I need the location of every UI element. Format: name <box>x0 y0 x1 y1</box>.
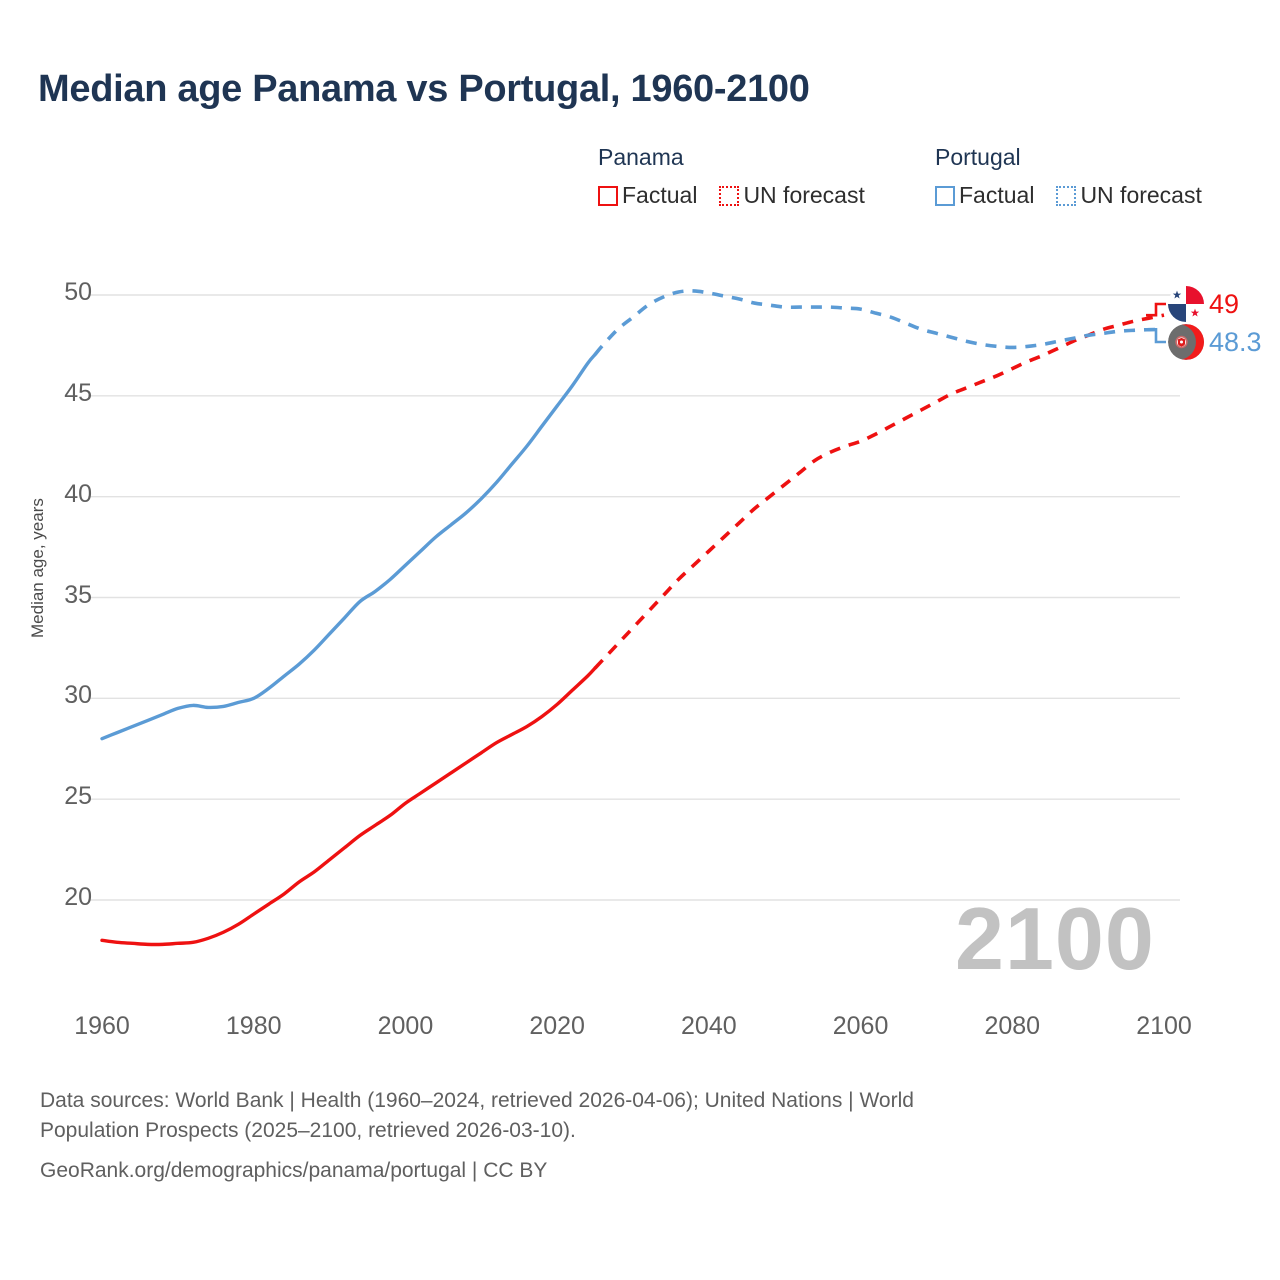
legend-swatch-solid-blue-icon <box>935 186 955 206</box>
legend-entry-panama-factual[interactable]: Factual <box>598 182 697 209</box>
endpoint-leader-panama <box>1146 304 1166 315</box>
x-axis-tick-2100: 2100 <box>1104 1012 1224 1041</box>
legend-label-portugal-forecast: UN forecast <box>1080 182 1201 209</box>
watermark-year: 2100 <box>955 888 1155 990</box>
x-axis-tick-2020: 2020 <box>497 1012 617 1041</box>
chart-page: Median age Panama vs Portugal, 1960-2100… <box>0 0 1280 1280</box>
legend-country-panama: Panama <box>598 142 865 172</box>
footer-sources-line1: Data sources: World Bank | Health (1960–… <box>40 1086 1170 1116</box>
legend-label-panama-factual: Factual <box>622 182 697 209</box>
panama-endpoint[interactable]: 49 <box>1168 286 1239 322</box>
series-line-factual-portugal <box>102 354 595 738</box>
legend-group-panama: Panama Factual UN forecast <box>598 142 865 209</box>
endpoint-leader-portugal <box>1146 329 1166 342</box>
data-series <box>102 291 1166 945</box>
x-axis-tick-2040: 2040 <box>649 1012 769 1041</box>
y-axis-tick-40: 40 <box>32 480 92 509</box>
y-axis-tick-50: 50 <box>32 278 92 307</box>
footer-sources-line2: Population Prospects (2025–2100, retriev… <box>40 1116 1170 1146</box>
legend-entry-portugal-factual[interactable]: Factual <box>935 182 1034 209</box>
y-axis-tick-25: 25 <box>32 782 92 811</box>
gridlines <box>88 295 1180 900</box>
footer-link[interactable]: GeoRank.org/demographics/panama/portugal… <box>40 1156 1170 1186</box>
portugal-flag-icon <box>1168 324 1204 360</box>
legend-country-portugal: Portugal <box>935 142 1202 172</box>
legend-group-portugal: Portugal Factual UN forecast <box>935 142 1202 209</box>
legend-entry-panama-forecast[interactable]: UN forecast <box>719 182 864 209</box>
portugal-endpoint-value: 48.3 <box>1209 329 1262 356</box>
x-axis-tick-1960: 1960 <box>42 1012 162 1041</box>
legend-swatch-solid-red-icon <box>598 186 618 206</box>
x-axis-tick-2000: 2000 <box>345 1012 465 1041</box>
series-line-factual-panama <box>102 668 595 944</box>
x-axis-tick-2060: 2060 <box>801 1012 921 1041</box>
y-axis-tick-35: 35 <box>32 581 92 610</box>
y-axis-tick-20: 20 <box>32 883 92 912</box>
legend-entry-portugal-forecast[interactable]: UN forecast <box>1056 182 1201 209</box>
series-line-forecast-panama <box>595 315 1164 668</box>
legend-label-portugal-factual: Factual <box>959 182 1034 209</box>
y-axis-tick-30: 30 <box>32 681 92 710</box>
legend-swatch-dotted-blue-icon <box>1056 186 1076 206</box>
x-axis-tick-1980: 1980 <box>194 1012 314 1041</box>
panama-endpoint-value: 49 <box>1209 291 1239 318</box>
y-axis-tick-45: 45 <box>32 379 92 408</box>
legend-swatch-dotted-red-icon <box>719 186 739 206</box>
chart-legend: Panama Factual UN forecast Portugal Fact… <box>598 142 1258 222</box>
legend-label-panama-forecast: UN forecast <box>743 182 864 209</box>
chart-footer: Data sources: World Bank | Health (1960–… <box>40 1086 1170 1186</box>
portugal-endpoint[interactable]: 48.3 <box>1168 324 1262 360</box>
panama-flag-icon <box>1168 286 1204 322</box>
page-title: Median age Panama vs Portugal, 1960-2100 <box>38 68 810 111</box>
x-axis-tick-2080: 2080 <box>952 1012 1072 1041</box>
series-line-forecast-portugal <box>595 291 1164 355</box>
